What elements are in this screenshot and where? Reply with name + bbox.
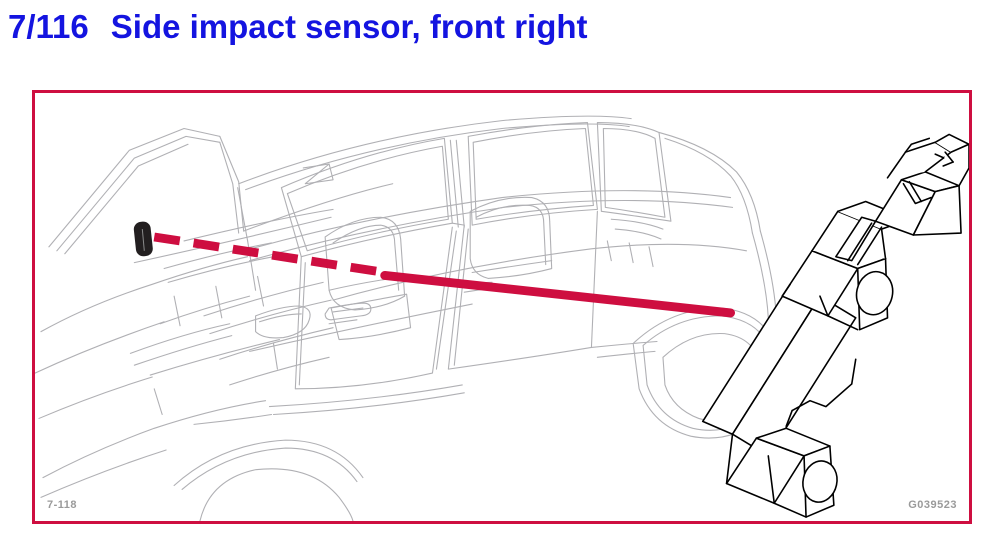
- figure-illustration: [35, 93, 969, 521]
- page-title: 7/116Side impact sensor, front right: [8, 6, 588, 48]
- side-impact-sensor-component: [703, 134, 969, 517]
- figure-caption-left: 7-118: [47, 499, 77, 511]
- vehicle-line-drawing: [35, 116, 780, 521]
- side-impact-sensor-marker: [134, 221, 153, 256]
- figure-frame: 7-118 G039523: [32, 90, 972, 524]
- figure-caption-right: G039523: [908, 499, 957, 511]
- page-title-text: Side impact sensor, front right: [111, 8, 588, 45]
- leader-line-solid: [385, 275, 731, 312]
- section-number: 7/116: [8, 8, 89, 45]
